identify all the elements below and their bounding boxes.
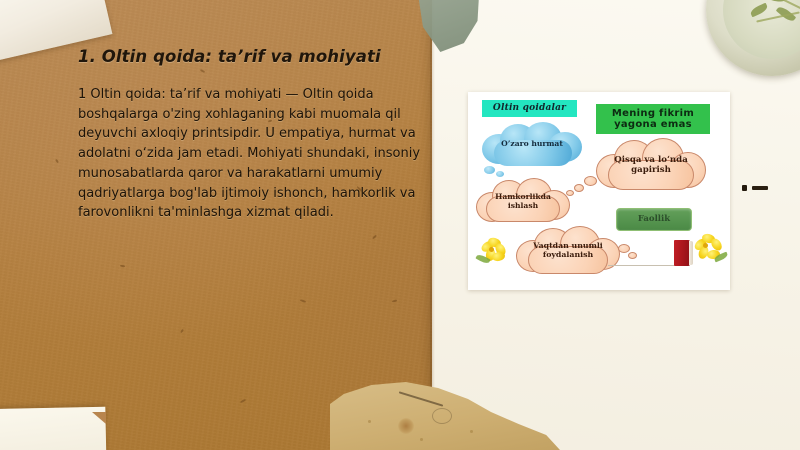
cloud-qisqa-lunda: Qisqa va lo‘nda gapirish bbox=[596, 138, 706, 192]
arrow-dot bbox=[742, 185, 747, 191]
cloud-label: O’zaro hurmat bbox=[497, 139, 567, 148]
kraft-speck bbox=[470, 430, 473, 433]
red-book-icon bbox=[674, 240, 690, 266]
cloud-label: Vaqtdan unumli foydalanish bbox=[516, 241, 620, 260]
yellow-flower-icon-left bbox=[480, 238, 510, 264]
cloud-ozaro-hurmat: O’zaro hurmat bbox=[480, 122, 584, 166]
cloud-tail-bubble bbox=[628, 252, 637, 259]
cloud-vaqtdan-unumli: Vaqtdan unumli foydalanish bbox=[516, 226, 620, 274]
diagram-canvas: Oltin qoidalar Mening fikrim yagona emas… bbox=[468, 92, 730, 290]
cloud-hamkorlikda-ishlash: Hamkorlikda ishlash bbox=[476, 178, 570, 224]
cloud-tail-bubble bbox=[496, 171, 504, 177]
yellow-flower-icon-right bbox=[694, 234, 726, 262]
flower-center bbox=[703, 243, 708, 248]
slide-canvas: 1. Oltin qoida: ta’rif va mohiyati 1 Olt… bbox=[0, 0, 800, 450]
kraft-loop-mark bbox=[432, 408, 452, 424]
diagram-header-right: Mening fikrim yagona emas bbox=[596, 104, 710, 134]
page-title: 1. Oltin qoida: ta’rif va mohiyati bbox=[78, 48, 426, 67]
paper-edge-shadow bbox=[430, 0, 435, 450]
cloud-label: Hamkorlikda ishlash bbox=[476, 192, 570, 211]
arrow-bar bbox=[752, 186, 768, 190]
diagram-header-left: Oltin qoidalar bbox=[482, 100, 577, 117]
text-column: 1. Oltin qoida: ta’rif va mohiyati 1 Olt… bbox=[78, 48, 426, 223]
kraft-speck bbox=[420, 438, 423, 441]
diagram-baseline bbox=[608, 265, 680, 266]
cloud-tail-bubble bbox=[584, 176, 597, 186]
cloud-tail-bubble bbox=[484, 166, 495, 174]
white-paper-slip-bottomleft bbox=[0, 407, 107, 450]
cloud-label: Qisqa va lo‘nda gapirish bbox=[596, 155, 706, 176]
ceramic-plate-decoration bbox=[706, 0, 800, 76]
kraft-ring-mark bbox=[398, 418, 414, 434]
diagram-faollik-box: Faollik bbox=[616, 208, 692, 231]
embedded-diagram-image: Oltin qoidalar Mening fikrim yagona emas… bbox=[468, 92, 730, 290]
cloud-tail-bubble bbox=[574, 184, 584, 192]
flower-petal bbox=[491, 251, 505, 262]
book-cover bbox=[674, 240, 690, 266]
bullet-arrow-marker bbox=[742, 184, 768, 192]
kraft-speck bbox=[368, 420, 371, 423]
flower-center bbox=[489, 247, 494, 252]
book-pages bbox=[689, 241, 693, 265]
body-paragraph: 1 Oltin qoida: ta’rif va mohiyati — Olti… bbox=[78, 85, 426, 223]
